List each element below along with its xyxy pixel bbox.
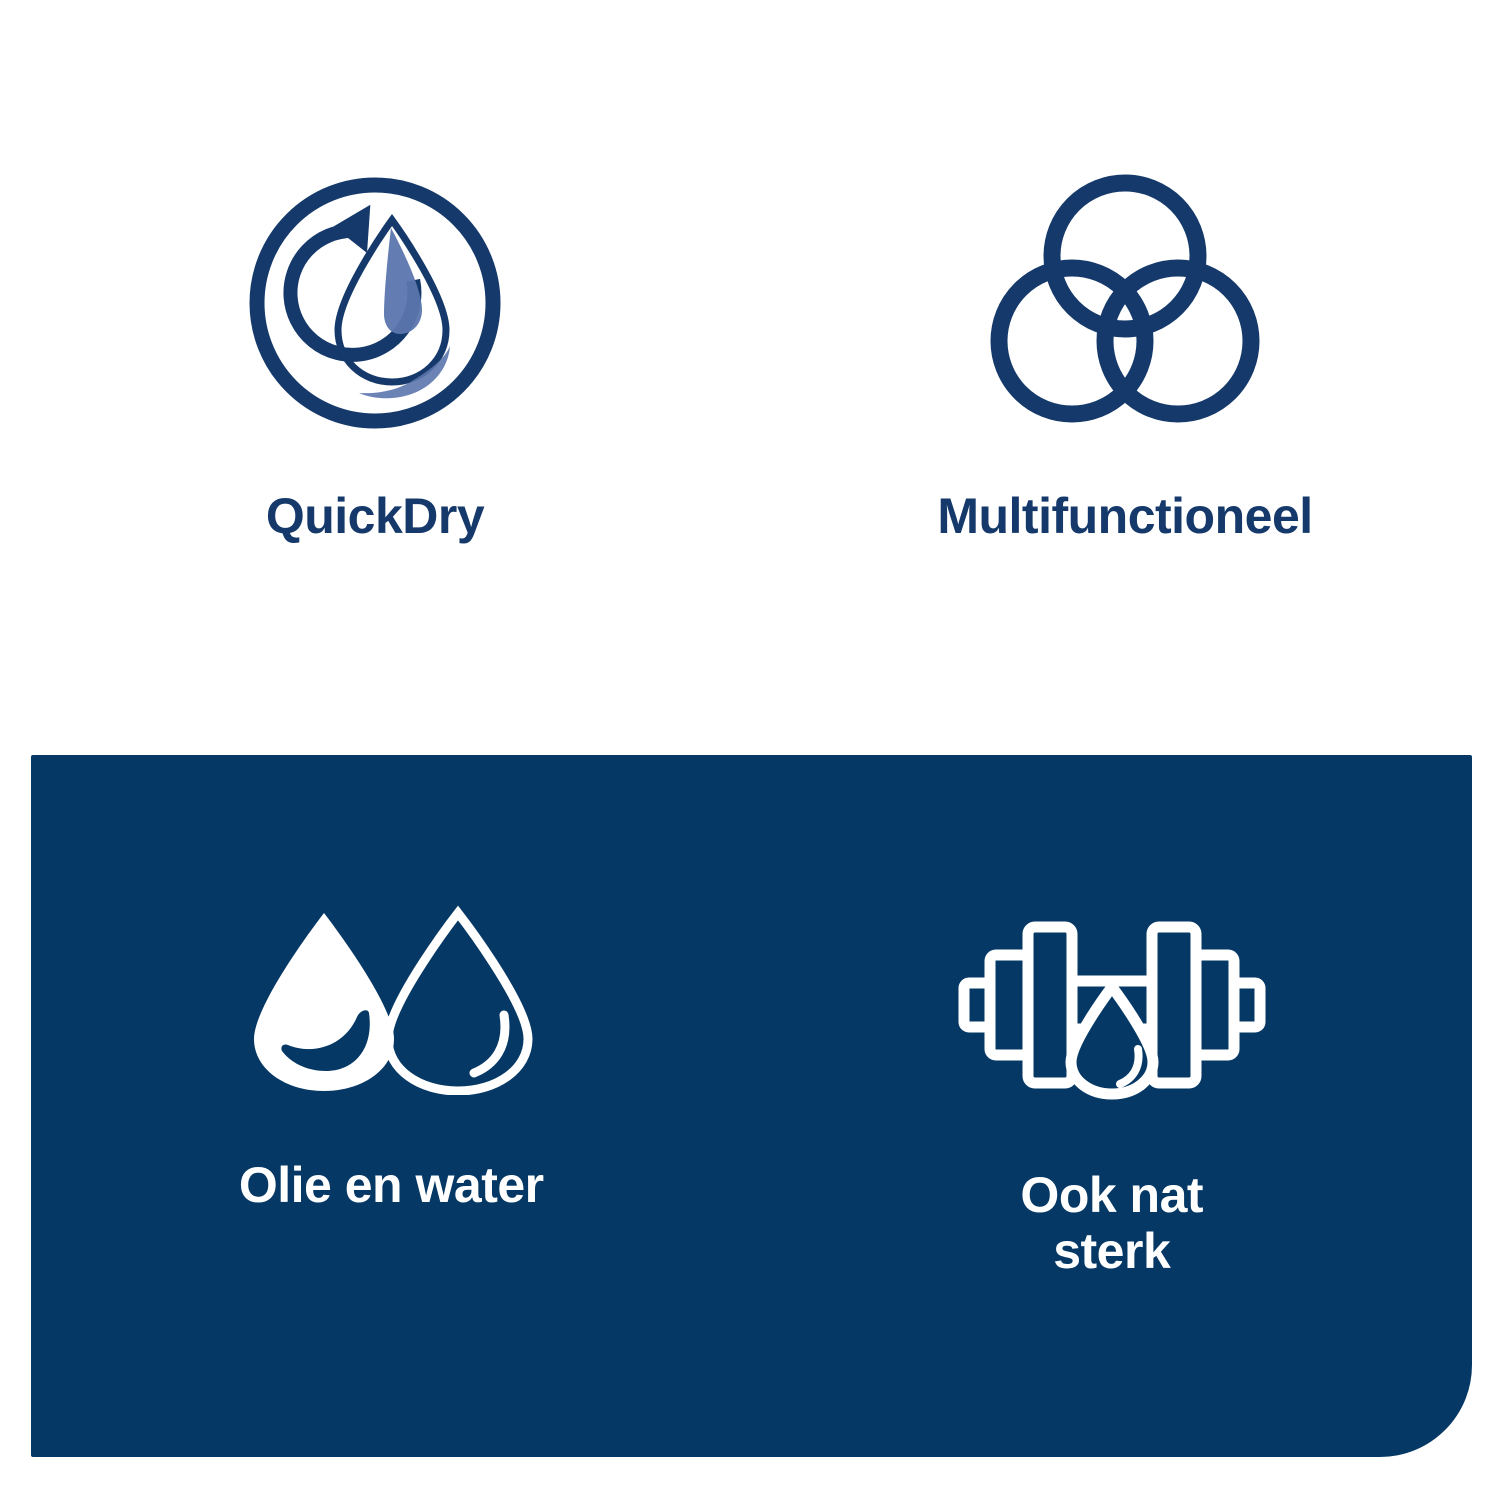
feature-quickdry: QuickDry <box>0 0 750 640</box>
feature-quickdry-label: QuickDry <box>266 490 484 543</box>
three-overlapping-circles-icon <box>980 168 1270 438</box>
feature-ook-nat-sterk-label: Ook nat sterk <box>1020 1167 1203 1279</box>
bottom-features-panel: Olie en water <box>31 755 1472 1457</box>
feature-olie-en-water: Olie en water <box>31 755 752 1457</box>
two-droplets-oil-water-icon <box>246 905 536 1095</box>
top-features-section: QuickDry Multifunctioneel <box>0 0 1500 755</box>
feature-olie-en-water-label: Olie en water <box>239 1157 544 1213</box>
quickdry-droplet-refresh-icon <box>240 168 510 438</box>
feature-multifunctioneel: Multifunctioneel <box>750 0 1500 640</box>
dumbbell-with-droplet-icon <box>957 905 1267 1105</box>
feature-multifunctioneel-label: Multifunctioneel <box>937 490 1312 543</box>
top-features-grid: QuickDry Multifunctioneel <box>0 0 1500 640</box>
feature-icons-page: QuickDry Multifunctioneel <box>0 0 1500 1500</box>
feature-ook-nat-sterk: Ook nat sterk <box>752 755 1473 1457</box>
bottom-features-grid: Olie en water <box>31 755 1472 1457</box>
